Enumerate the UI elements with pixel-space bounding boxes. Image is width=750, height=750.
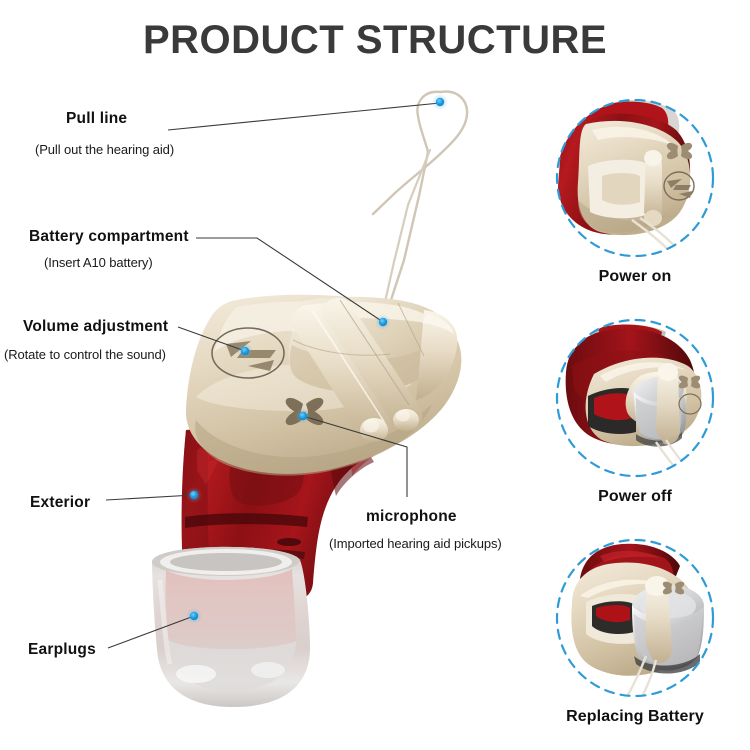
leader-line-pull-line [168, 103, 440, 130]
callout-pull-line-subtitle: (Pull out the hearing aid) [35, 143, 174, 158]
marker-dot-earplugs [190, 612, 198, 620]
callout-volume-adjustment-subtitle: (Rotate to control the sound) [4, 348, 166, 363]
leader-line-battery-compartment [196, 238, 383, 322]
callout-microphone-title: microphone [366, 508, 457, 525]
earplug-graphic [152, 547, 310, 707]
hearing-aid-cream-shell [186, 295, 461, 476]
marker-glow-exterior [186, 487, 202, 503]
callout-volume-adjustment-subtitle-wrap: (Rotate to control the sound) [4, 348, 166, 363]
marker-dot-microphone [299, 412, 307, 420]
leader-line-volume-adjustment [178, 327, 245, 351]
marker-glow-volume-adjustment [237, 343, 253, 359]
inset-caption-power-off: Power off [520, 488, 750, 506]
callout-battery-compartment-subtitle-wrap: (Insert A10 battery) [44, 256, 153, 271]
marker-dot-exterior [190, 491, 198, 499]
inset-caption-replacing-battery: Replacing Battery [520, 708, 750, 726]
leader-line-exterior [106, 495, 194, 500]
callout-microphone-subtitle: (Imported hearing aid pickups) [329, 537, 502, 552]
callout-volume-adjustment: Volume adjustment [23, 318, 168, 335]
callout-volume-adjustment-title: Volume adjustment [23, 318, 168, 335]
marker-glow-earplugs [186, 608, 202, 624]
marker-dot-volume-adjustment [241, 347, 249, 355]
callout-microphone-subtitle-wrap: (Imported hearing aid pickups) [329, 537, 502, 552]
inset-power-on-graphic [555, 98, 715, 258]
pull-line-graphic [373, 92, 467, 302]
callout-leader-lines [106, 94, 448, 648]
callout-battery-compartment: Battery compartment [29, 228, 189, 245]
page-title: PRODUCT STRUCTURE [0, 18, 750, 63]
callout-microphone: microphone [366, 508, 457, 525]
product-structure-diagram: PRODUCT STRUCTURE [0, 0, 750, 750]
callout-battery-compartment-subtitle: (Insert A10 battery) [44, 256, 153, 271]
hearing-aid-red-body [182, 415, 378, 601]
leader-line-earplugs [108, 616, 194, 648]
microphone-port [286, 398, 324, 425]
inset-power-off-graphic [555, 318, 715, 478]
callout-pull-line: Pull line [66, 110, 127, 127]
marker-glow-battery-compartment [375, 314, 391, 330]
inset-caption-power-on: Power on [520, 268, 750, 286]
callout-exterior: Exterior [30, 494, 90, 511]
marker-glow-microphone [295, 408, 311, 424]
callout-pull-line-title: Pull line [66, 110, 127, 127]
marker-glow-pull-line [432, 94, 448, 110]
callout-pull-line-subtitle-wrap: (Pull out the hearing aid) [35, 143, 174, 158]
callout-earplugs-title: Earplugs [28, 641, 96, 658]
callout-earplugs: Earplugs [28, 641, 96, 658]
inset-replacing-battery-graphic [555, 538, 715, 704]
callout-exterior-title: Exterior [30, 494, 90, 511]
marker-dot-pull-line [436, 98, 444, 106]
callout-battery-compartment-title: Battery compartment [29, 228, 189, 245]
leader-line-microphone [303, 416, 407, 497]
marker-dot-battery-compartment [379, 318, 387, 326]
